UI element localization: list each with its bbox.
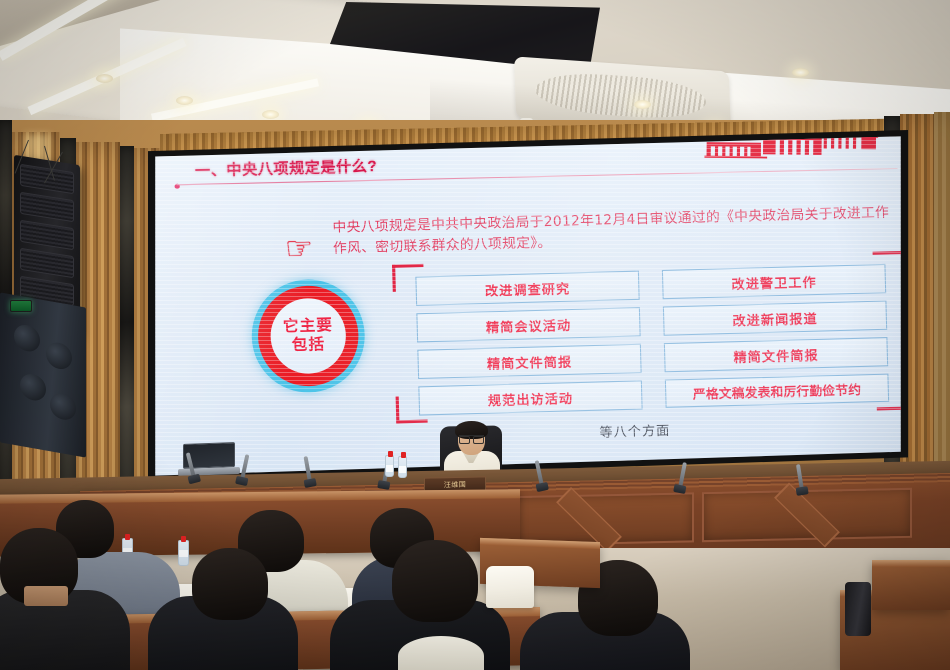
list-item: 规范出访活动 [418, 380, 642, 415]
downlight-icon [96, 74, 113, 83]
presentation-slide: 一、中央八项规定是什么? ☞ 中央八项规定是中共中央政治局于2012年12月4日… [153, 135, 903, 477]
list-item: 精简文件简报 [417, 344, 641, 379]
list-item: 改进警卫工作 [662, 264, 886, 299]
podium-panel [702, 488, 912, 542]
wall-speaker-cabinet [0, 292, 86, 457]
downlight-icon [792, 68, 809, 77]
downlight-icon [176, 96, 193, 105]
audience-member-neck [24, 586, 68, 606]
glasses-icon [459, 435, 484, 441]
nameplate-text: 汪维国 [444, 480, 467, 490]
exit-sign-icon [10, 300, 32, 312]
pointing-hand-icon: ☞ [285, 233, 314, 265]
badge-line-1: 它主要 [283, 317, 334, 337]
regulations-column-right: 改进警卫工作 改进新闻报道 精简文件简报 严格文稿发表和厉行勤俭节约 [662, 264, 889, 409]
water-bottle [385, 455, 394, 477]
main-points-badge: 它主要 包括 [250, 278, 366, 394]
audience-member-head [392, 540, 478, 622]
slide-footnote: 等八个方面 [599, 419, 671, 441]
water-bottle [398, 456, 407, 478]
list-item: 严格文稿发表和厉行勤俭节约 [665, 374, 889, 408]
audience-member-head [192, 548, 268, 620]
regulations-list: 改进调查研究 精简会议活动 精简文件简报 规范出访活动 改进警卫工作 改进新闻报… [415, 264, 889, 416]
badge-line-2: 包括 [292, 336, 326, 355]
list-item: 精简会议活动 [416, 307, 640, 342]
conference-room-scene: 一、中央八项规定是什么? ☞ 中央八项规定是中共中央政治局于2012年12月4日… [0, 0, 950, 670]
list-item: 改进调查研究 [415, 271, 639, 306]
audience-collar [398, 636, 484, 670]
side-desk [872, 560, 950, 610]
led-display-screen: 一、中央八项规定是什么? ☞ 中央八项规定是中共中央政治局于2012年12月4日… [148, 130, 908, 482]
chair-cover [486, 566, 534, 608]
great-wall-balustrade-icon [698, 135, 886, 165]
list-item: 改进新闻报道 [663, 300, 887, 335]
slide-title: 一、中央八项规定是什么? [195, 154, 378, 181]
downlight-icon [262, 110, 279, 119]
water-bottle [178, 540, 189, 566]
floor-subwoofer [845, 582, 871, 636]
list-item: 精简文件简报 [664, 337, 888, 372]
regulations-column-left: 改进调查研究 精简会议活动 精简文件简报 规范出访活动 [415, 271, 642, 416]
downlight-icon [634, 100, 651, 109]
